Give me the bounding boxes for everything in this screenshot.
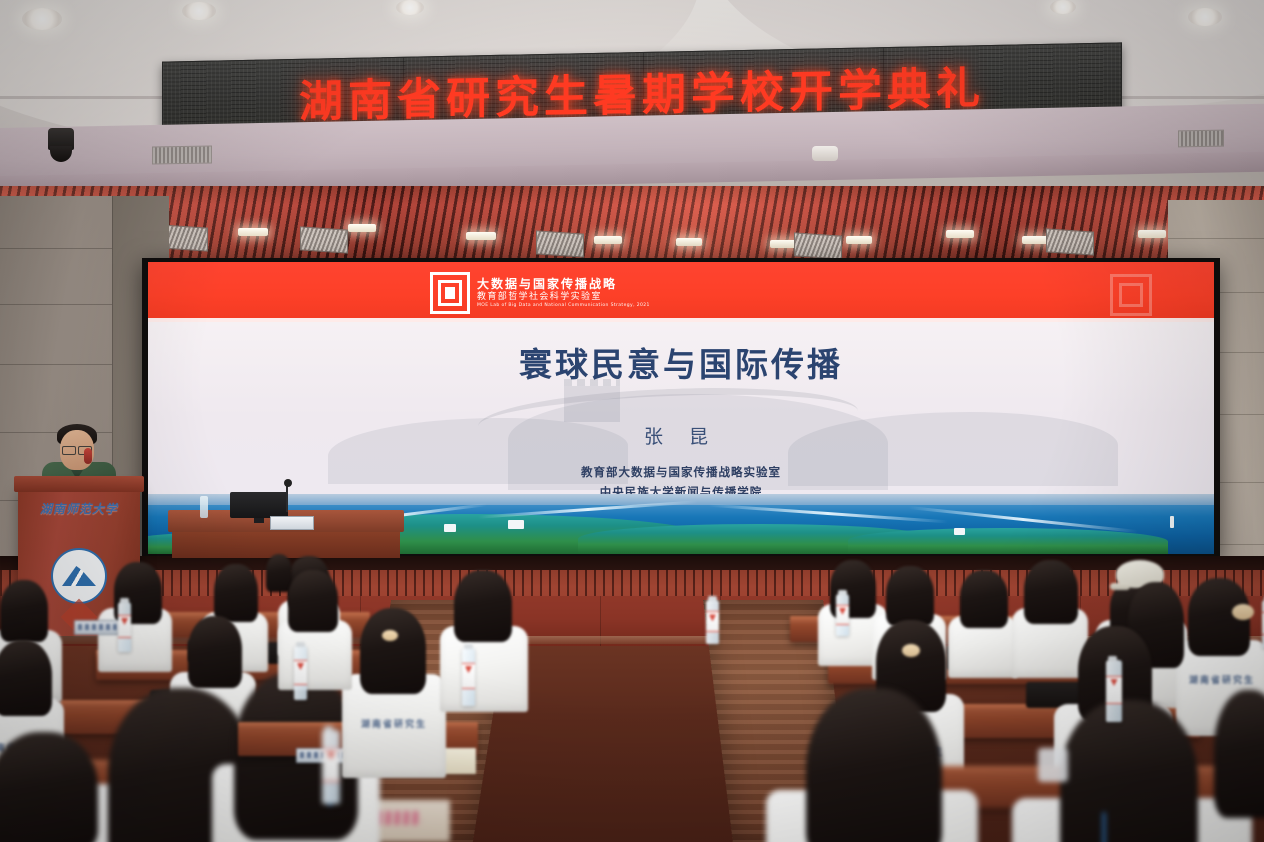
ceiling-grille-icon <box>794 232 842 259</box>
slide-affiliation-1: 教育部大数据与国家传播战略实验室 <box>148 462 1214 482</box>
computer-monitor-icon <box>230 492 288 518</box>
podium-institution-text: 湖南师范大学 <box>18 500 140 517</box>
podium-top-surface <box>14 476 144 492</box>
ceiling-spotlight <box>846 236 872 244</box>
photo-watchtower <box>444 524 456 532</box>
photo-watchtower <box>508 520 524 529</box>
water-bottle <box>322 730 340 804</box>
tshirt-text: 湖南省研究生 <box>342 720 446 732</box>
hair-tie <box>1232 604 1254 620</box>
lanyard <box>1102 812 1106 842</box>
great-wall-tower-silhouette <box>564 386 620 422</box>
water-bottle <box>294 646 307 700</box>
slide-header-band <box>148 262 1214 322</box>
ceiling-grille-icon <box>300 226 348 253</box>
slide-corner-watermark-icon <box>1110 274 1152 316</box>
slide-title: 寰球民意与国际传播 <box>148 338 1214 386</box>
ceiling-downlight <box>22 8 62 30</box>
stage-table-base <box>172 528 400 558</box>
hair-tie <box>382 630 398 641</box>
university-logo-icon <box>51 548 107 604</box>
ceiling-downlight <box>396 0 424 15</box>
hair-tie <box>902 644 920 657</box>
water-bottle <box>462 648 475 706</box>
ceiling-spotlight <box>466 232 496 240</box>
lecture-hall-photo: 湖南省研究生暑期学校开学典礼 <box>0 0 1264 842</box>
photo-watchtower <box>954 528 965 535</box>
photo-ridge <box>848 528 1168 554</box>
ceiling-spotlight <box>1138 230 1166 238</box>
face-mask-icon <box>1038 748 1068 782</box>
water-bottle <box>118 602 131 652</box>
water-bottle <box>836 594 849 636</box>
lab-logo-line2: 教育部哲学社会科学实验室 <box>477 292 650 303</box>
lab-logo-line3: MOE Lab of Big Data and National Communi… <box>477 303 650 309</box>
microphone-icon <box>286 484 288 512</box>
tshirt-text: 湖南省研究生 <box>1176 676 1264 688</box>
stage-water-bottle <box>200 496 208 518</box>
ceiling-spotlight <box>348 224 376 232</box>
smoke-detector-icon <box>812 146 838 161</box>
ceiling-downlight <box>1188 8 1222 26</box>
ceiling-spotlight <box>946 230 974 238</box>
stage-nameplate <box>270 516 314 530</box>
air-vent-icon <box>152 145 212 164</box>
ceiling-spotlight <box>594 236 622 244</box>
handheld-microphone-icon <box>84 448 92 464</box>
ceiling-spotlight <box>770 240 796 248</box>
lab-logo-line1: 大数据与国家传播战略 <box>477 277 650 292</box>
security-camera-icon <box>48 128 74 150</box>
lab-logo: 大数据与国家传播战略 教育部哲学社会科学实验室 MOE Lab of Big D… <box>430 272 650 314</box>
square-seal-logo-icon <box>430 272 470 314</box>
water-bottle <box>1106 660 1122 722</box>
ceiling-grille-icon <box>536 230 584 257</box>
ceiling-downlight <box>182 2 216 20</box>
photo-watchtower <box>1170 516 1174 528</box>
slide-author: 张 昆 <box>148 422 1214 449</box>
ceiling-spotlight <box>676 238 702 246</box>
ceiling-spotlight <box>238 228 268 236</box>
air-vent-icon <box>1178 130 1224 148</box>
water-bottle <box>706 600 719 644</box>
ceiling-downlight <box>1050 0 1076 14</box>
ceiling-grille-icon <box>1046 228 1094 255</box>
